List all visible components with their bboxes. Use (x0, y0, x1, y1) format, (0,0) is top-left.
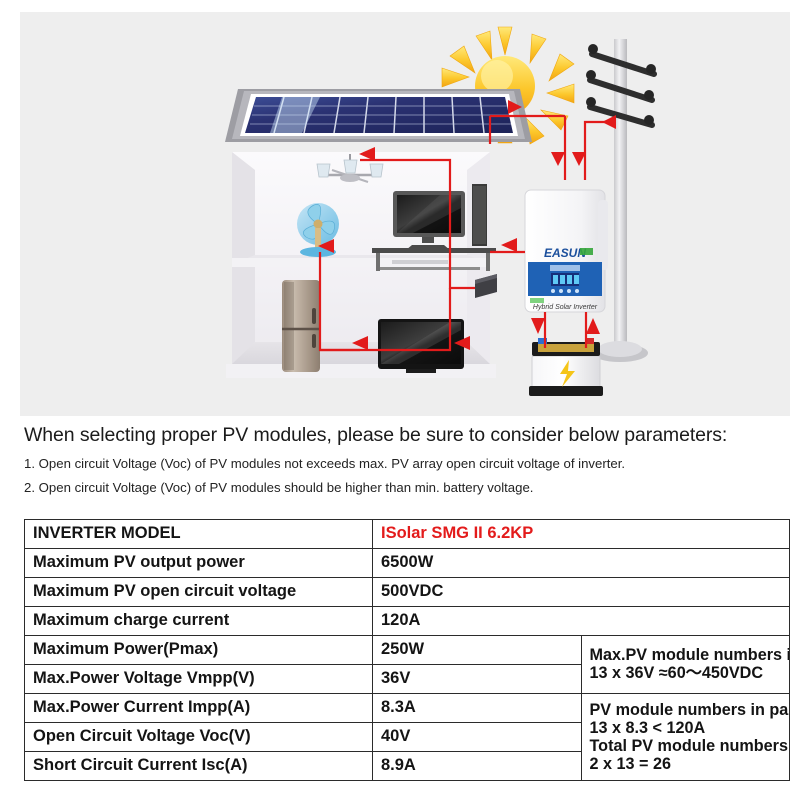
total-note-calc: 2 x 13 = 26 (590, 756, 790, 773)
spec-label: Max.Power Current Impp(A) (25, 694, 373, 723)
solar-panel-array (225, 89, 532, 142)
spec-value: 8.3A (373, 694, 582, 723)
spec-value: 8.9A (373, 752, 582, 781)
pc-tower (472, 184, 487, 246)
spec-value: 120A (373, 607, 790, 636)
series-note-cell: Max.PV module numbers in senes 13 x 36V … (581, 636, 790, 694)
spec-value: 500VDC (373, 578, 790, 607)
arrow-left-to-socket (501, 238, 517, 252)
parallel-note-calc: 13 x 8.3 < 120A (590, 720, 790, 737)
arrow-down-to-battery (531, 318, 545, 334)
spec-value: 250W (373, 636, 582, 665)
arrow-up-from-battery (586, 318, 600, 334)
spec-label: Maximum charge current (25, 607, 373, 636)
spec-label: Maximum PV output power (25, 549, 373, 578)
refrigerator (282, 280, 320, 372)
page-root: EASUN Hybrid Solar Inverter (0, 0, 800, 800)
inverter-model-text: ISolar SMG II 6.2KP (381, 524, 533, 542)
hybrid-solar-inverter: EASUN Hybrid Solar Inverter (525, 190, 608, 312)
table-row: Maximum Power(Pmax) 250W Max.PV module n… (25, 636, 790, 665)
spec-value-model: ISolar SMG II 6.2KP (373, 520, 790, 549)
inverter-spec-table: INVERTER MODEL ISolar SMG II 6.2KP Maxim… (24, 519, 790, 781)
total-note-title: Total PV module numbers (590, 738, 790, 755)
intro-text-block: When selecting proper PV modules, please… (24, 424, 784, 495)
arrow-down-to-inverter-left (551, 152, 565, 166)
arrow-left-from-grid (602, 115, 616, 129)
table-row: Max.Power Current Impp(A) 8.3A PV module… (25, 694, 790, 723)
solar-system-illustration: EASUN Hybrid Solar Inverter (20, 12, 790, 416)
parallel-note-cell: PV module numbers in parallel 13 x 8.3 <… (581, 694, 790, 781)
inverter-brand-label: EASUN (544, 246, 586, 260)
table-row: Maximum charge current 120A (25, 607, 790, 636)
spec-value: 40V (373, 723, 582, 752)
inverter-subtitle-label: Hybrid Solar Inverter (533, 304, 598, 311)
intro-note-2: 2. Open circuit Voltage (Voc) of PV modu… (24, 480, 784, 495)
spec-label: Short Circuit Current Isc(A) (25, 752, 373, 781)
spec-value: 6500W (373, 549, 790, 578)
series-note-title: Max.PV module numbers in senes (590, 647, 790, 664)
solar-system-diagram-svg: EASUN Hybrid Solar Inverter (20, 12, 790, 416)
table-row: INVERTER MODEL ISolar SMG II 6.2KP (25, 520, 790, 549)
spec-label: Open Circuit Voltage Voc(V) (25, 723, 373, 752)
spec-label: Maximum PV open circuit voltage (25, 578, 373, 607)
series-note-calc: 13 x 36V ≈60～450VDC (590, 665, 790, 682)
battery-bank (529, 338, 603, 396)
intro-note-1: 1. Open circuit Voltage (Voc) of PV modu… (24, 456, 784, 471)
table-row: Maximum PV open circuit voltage 500VDC (25, 578, 790, 607)
page-title: When selecting proper PV modules, please… (24, 424, 784, 447)
spec-value: 36V (373, 665, 582, 694)
parallel-note-title: PV module numbers in parallel (590, 702, 790, 719)
spec-label: Maximum Power(Pmax) (25, 636, 373, 665)
spec-label: Max.Power Voltage Vmpp(V) (25, 665, 373, 694)
spec-label: INVERTER MODEL (25, 520, 373, 549)
table-row: Maximum PV output power 6500W (25, 549, 790, 578)
